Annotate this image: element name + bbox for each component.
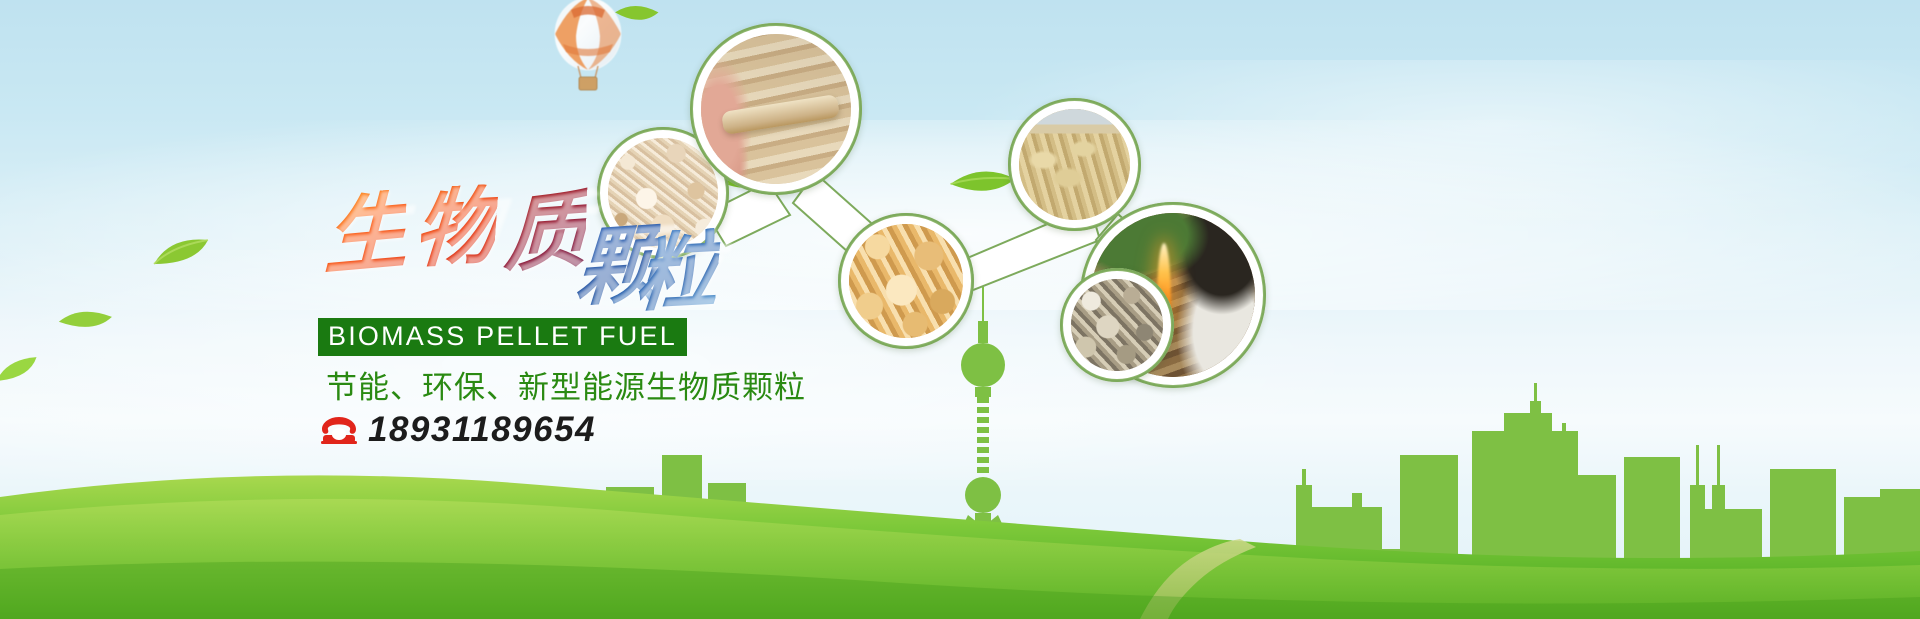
telephone-icon (320, 415, 358, 445)
green-grass-hill (0, 419, 1920, 619)
sky-haze-right (0, 60, 1920, 220)
headline-char-1: 生 (323, 188, 406, 280)
headline-char-2: 物 (411, 184, 499, 273)
english-headline-badge: BIOMASS PELLET FUEL (318, 318, 687, 356)
phone-number: 18931189654 (368, 410, 596, 450)
headline-text-block: 生 物 质 颗 粒 BIOMASS PELLET FUEL 节能、环保、新型能源… (318, 186, 958, 296)
chinese-headline: 生 物 质 颗 粒 (318, 186, 958, 296)
hand-holding-pellet-photo[interactable] (690, 23, 862, 195)
biomass-pellet-banner: 生 物 质 颗 粒 BIOMASS PELLET FUEL 节能、环保、新型能源… (0, 0, 1920, 619)
headline-char-5: 粒 (632, 228, 721, 317)
hot-air-balloon-icon (530, 0, 650, 96)
biomass-ash-photo[interactable] (1060, 268, 1174, 382)
phone-row[interactable]: 18931189654 (320, 410, 596, 450)
subtitle-text: 节能、环保、新型能源生物质颗粒 (326, 362, 806, 407)
headline-char-3: 质 (503, 187, 588, 277)
hay-bale-field-photo[interactable] (1008, 98, 1141, 231)
floating-leaf-icon (152, 234, 212, 268)
